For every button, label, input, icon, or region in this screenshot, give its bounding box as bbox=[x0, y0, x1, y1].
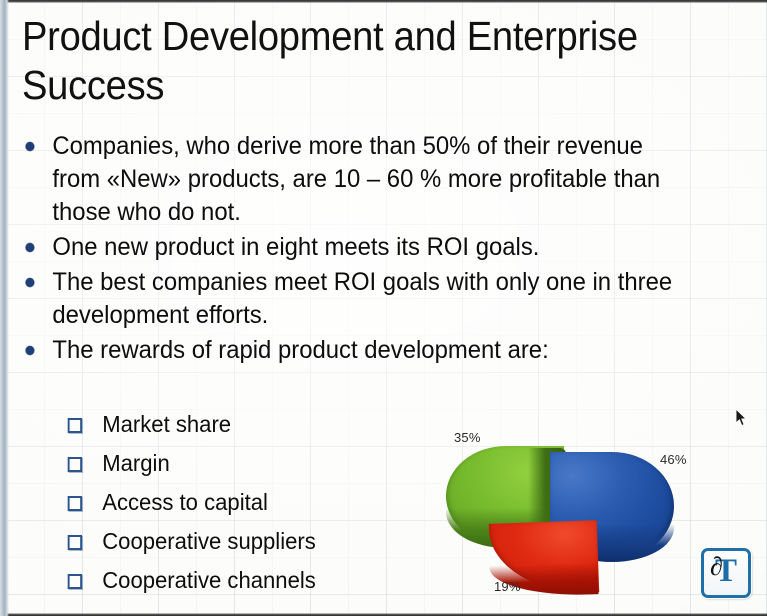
bullet-dot-icon bbox=[26, 142, 35, 151]
sub-bullet-text: Cooperative channels bbox=[102, 561, 473, 600]
bullet-dot-icon bbox=[26, 278, 35, 287]
bullet-text: The best companies meet ROI goals with o… bbox=[52, 266, 686, 332]
sub-bullet-list: Market share Margin Access to capital Co… bbox=[60, 405, 490, 600]
sub-bullet-text: Market share bbox=[102, 405, 473, 444]
slide-canvas: Product Development and Enterprise Succe… bbox=[0, 0, 767, 616]
square-bullet-icon bbox=[68, 457, 82, 472]
mouse-cursor-icon bbox=[736, 409, 749, 427]
corner-logo: T ∂ bbox=[701, 548, 751, 598]
page-title: Product Development and Enterprise Succe… bbox=[22, 12, 673, 110]
bullet-text: Companies, who derive more than 50% of t… bbox=[52, 130, 686, 229]
slide-content: Product Development and Enterprise Succe… bbox=[0, 0, 767, 616]
list-item: Margin bbox=[60, 444, 473, 483]
bullet-dot-icon bbox=[26, 243, 35, 252]
square-bullet-icon bbox=[68, 496, 82, 511]
square-bullet-icon bbox=[68, 574, 82, 589]
list-item: Cooperative suppliers bbox=[60, 522, 473, 561]
bullet-dot-icon bbox=[26, 346, 35, 355]
list-item: Cooperative channels bbox=[60, 561, 473, 600]
list-item: Access to capital bbox=[60, 483, 473, 522]
sub-bullet-text: Cooperative suppliers bbox=[102, 522, 473, 561]
list-item: Market share bbox=[60, 405, 473, 444]
bullet-list: Companies, who derive more than 50% of t… bbox=[18, 130, 718, 369]
pie-chart: 35% 46% 19% bbox=[432, 424, 702, 616]
list-item: Companies, who derive more than 50% of t… bbox=[18, 130, 687, 229]
bullet-text: One new product in eight meets its ROI g… bbox=[52, 231, 686, 264]
pie-label-red: 19% bbox=[494, 579, 521, 594]
sub-bullet-text: Access to capital bbox=[102, 483, 473, 522]
list-item: The best companies meet ROI goals with o… bbox=[18, 266, 687, 332]
bullet-text: The rewards of rapid product development… bbox=[52, 334, 686, 367]
list-item: One new product in eight meets its ROI g… bbox=[18, 231, 687, 264]
pie-label-blue: 46% bbox=[660, 452, 687, 467]
list-item: The rewards of rapid product development… bbox=[18, 334, 687, 367]
logo-script-mark: ∂ bbox=[710, 552, 723, 582]
square-bullet-icon bbox=[68, 535, 82, 550]
square-bullet-icon bbox=[68, 418, 82, 433]
pie-label-green: 35% bbox=[454, 430, 481, 445]
sub-bullet-text: Margin bbox=[102, 444, 473, 483]
